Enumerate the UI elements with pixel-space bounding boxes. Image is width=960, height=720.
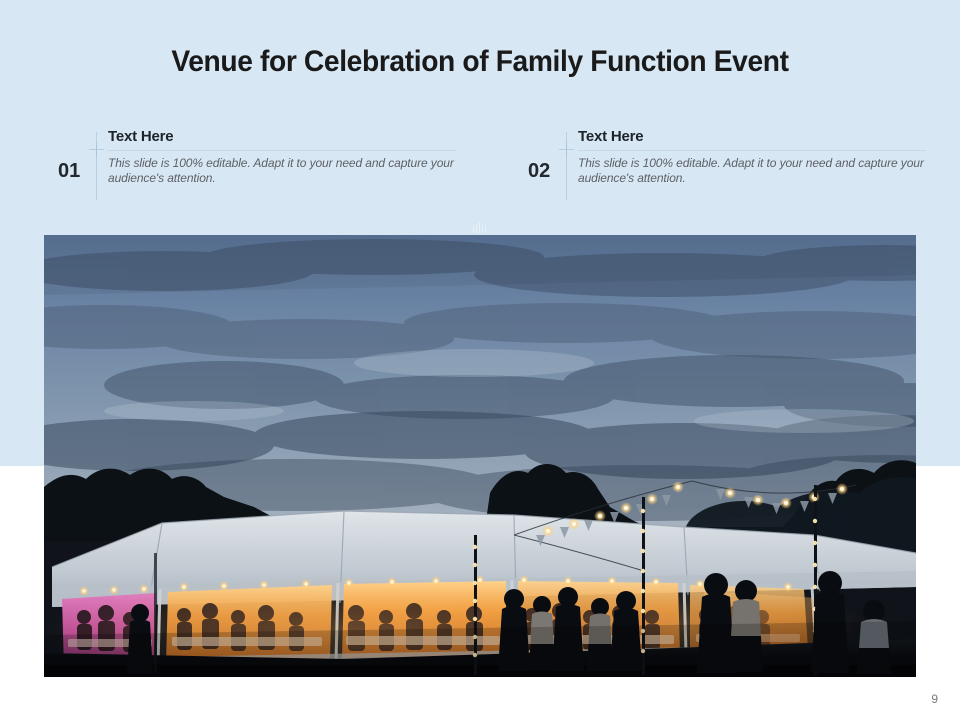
text-blocks: 01 Text Here This slide is 100% editable… [0, 128, 960, 218]
block-text: This slide is 100% editable. Adapt it to… [578, 156, 926, 186]
slide: Venue for Celebration of Family Function… [0, 0, 960, 720]
page-title: Venue for Celebration of Family Function… [29, 45, 931, 79]
sparkle-icon [89, 142, 104, 157]
block-text: This slide is 100% editable. Adapt it to… [108, 156, 456, 186]
sparkle-icon [559, 142, 574, 157]
block-body: Text Here This slide is 100% editable. A… [578, 128, 926, 186]
venue-photo [44, 235, 916, 677]
block-heading: Text Here [108, 128, 456, 151]
block-number: 01 [58, 160, 92, 183]
text-block-01: 01 Text Here This slide is 100% editable… [58, 128, 458, 218]
block-heading: Text Here [578, 128, 926, 151]
page-number: 9 [931, 692, 938, 706]
text-block-02: 02 Text Here This slide is 100% editable… [528, 128, 928, 218]
block-body: Text Here This slide is 100% editable. A… [108, 128, 456, 186]
photo-marker-icon [470, 222, 490, 236]
block-number: 02 [528, 160, 562, 183]
